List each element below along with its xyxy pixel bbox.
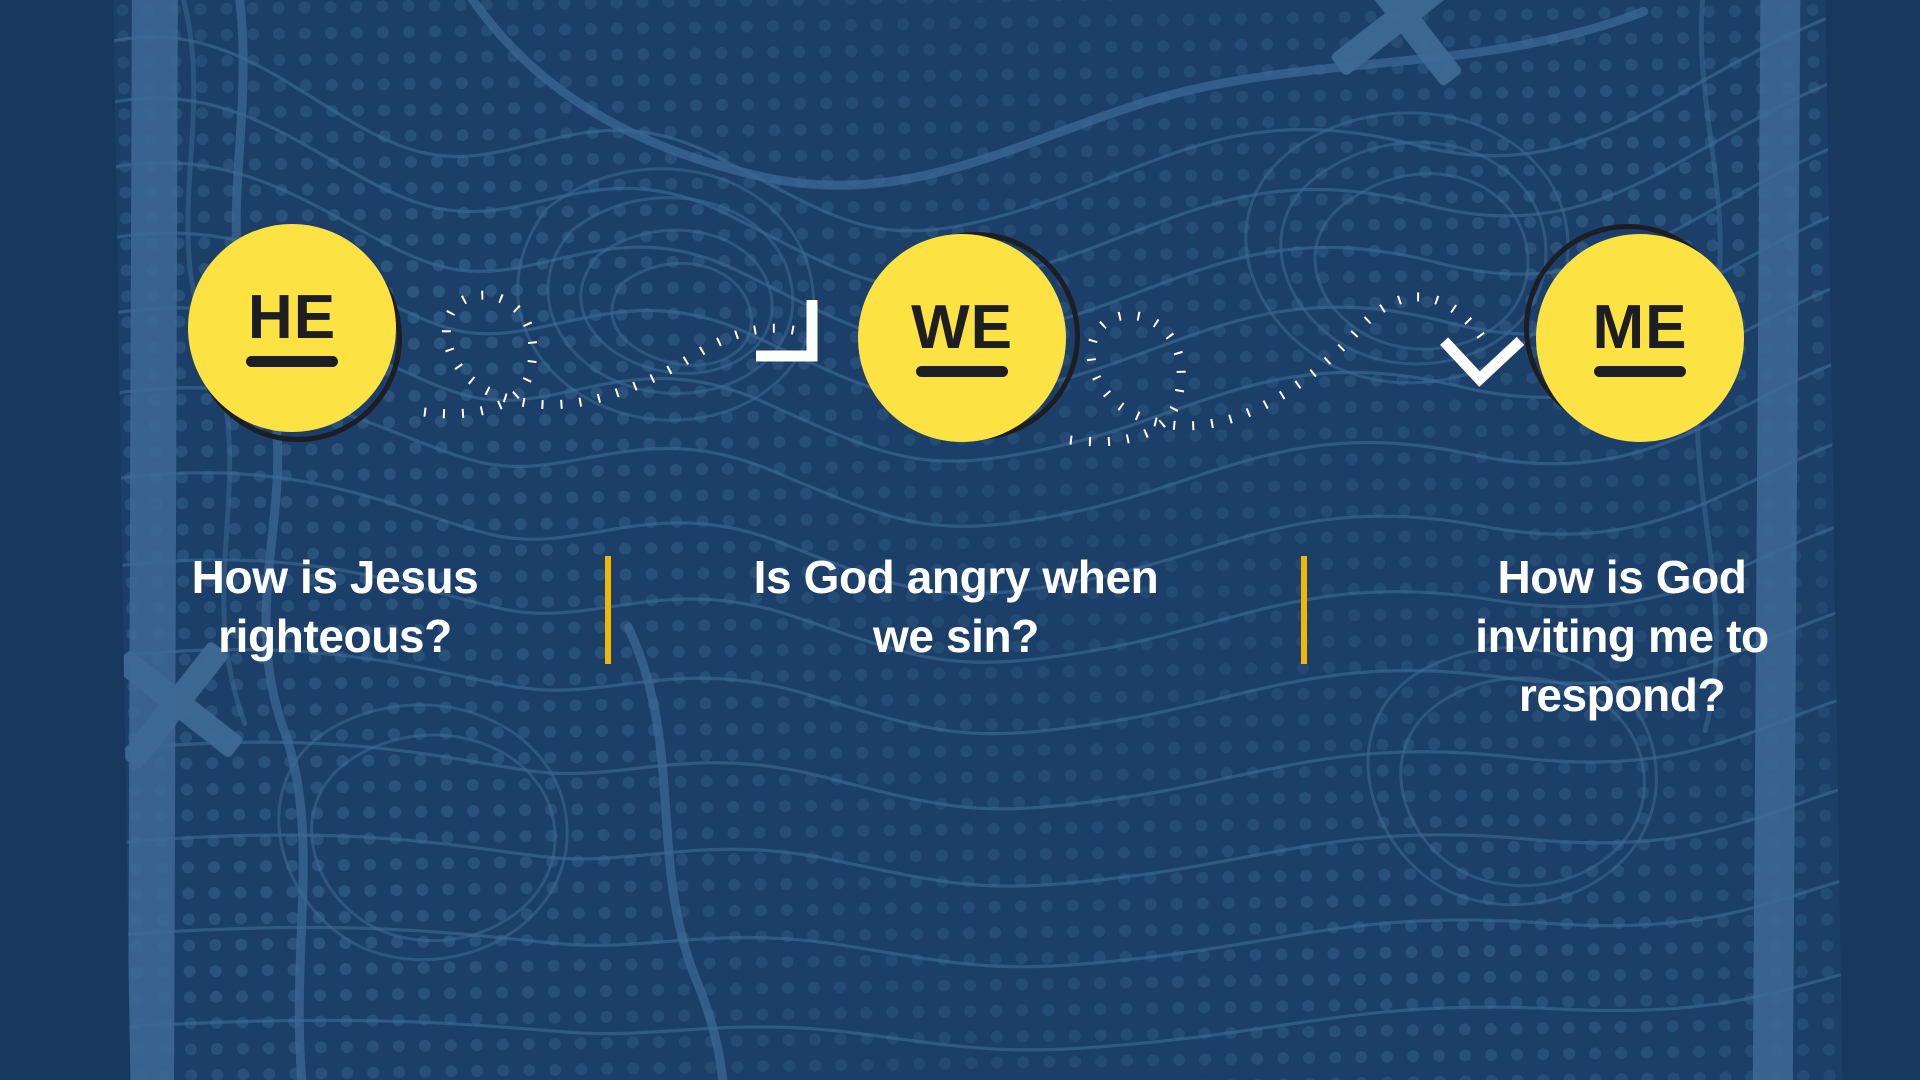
divider-1 bbox=[605, 556, 611, 664]
caption-we-line-1: Is God angry when bbox=[666, 548, 1246, 607]
caption-he-line-1: How is Jesus bbox=[120, 548, 550, 607]
caption-me-line-3: respond? bbox=[1362, 666, 1882, 725]
topographic-texture bbox=[113, 0, 1843, 1080]
caption-me-line-1: How is God bbox=[1362, 548, 1882, 607]
band-left bbox=[128, 0, 179, 1080]
caption-we-line-2: we sin? bbox=[666, 607, 1246, 666]
band-right bbox=[1752, 0, 1801, 1080]
caption-he-line-2: righteous? bbox=[120, 607, 550, 666]
background-map-panel bbox=[113, 0, 1843, 1080]
caption-we: Is God angry when we sin? bbox=[666, 548, 1246, 666]
slide-canvas: HE WE ME How is Jesus righteous? bbox=[0, 0, 1920, 1080]
caption-he: How is Jesus righteous? bbox=[120, 548, 550, 666]
caption-me-line-2: inviting me to bbox=[1362, 607, 1882, 666]
divider-2 bbox=[1301, 556, 1307, 664]
caption-row: How is Jesus righteous? Is God angry whe… bbox=[120, 548, 1820, 725]
caption-me: How is God inviting me to respond? bbox=[1362, 548, 1882, 725]
